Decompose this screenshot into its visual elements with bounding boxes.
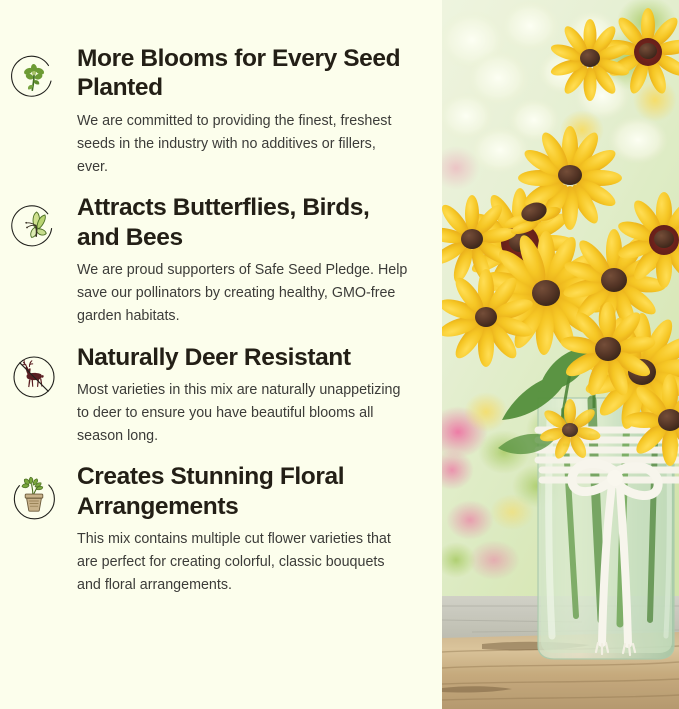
feature-text: Naturally Deer Resistant Most varieties … (77, 343, 431, 449)
butterfly-icon (10, 203, 58, 251)
feature-title: More Blooms for Every Seed Planted (77, 44, 417, 103)
feature-title: Creates Stunning Floral Arrangements (77, 462, 417, 521)
feature-item: More Blooms for Every Seed Planted We ar… (0, 44, 442, 179)
features-panel: More Blooms for Every Seed Planted We ar… (0, 0, 442, 709)
feature-title: Naturally Deer Resistant (77, 343, 409, 372)
product-feature-page: More Blooms for Every Seed Planted We ar… (0, 0, 679, 709)
potted-plant-icon (10, 472, 58, 520)
deer-resistant-icon (10, 353, 58, 401)
feature-description: This mix contains multiple cut flower va… (77, 528, 409, 597)
feature-item: Naturally Deer Resistant Most varieties … (0, 343, 442, 449)
flower-bloom-icon (10, 54, 58, 102)
feature-item: Attracts Butterflies, Birds, and Bees We… (0, 193, 442, 328)
feature-item: Creates Stunning Floral Arrangements Thi… (0, 462, 442, 597)
flowers-in-jar-photo (442, 0, 679, 709)
feature-title: Attracts Butterflies, Birds, and Bees (77, 193, 417, 252)
feature-text: Creates Stunning Floral Arrangements Thi… (77, 462, 439, 597)
feature-description: Most varieties in this mix are naturally… (77, 379, 409, 448)
feature-text: Attracts Butterflies, Birds, and Bees We… (77, 193, 439, 328)
product-photo (442, 0, 679, 709)
feature-description: We are proud supporters of Safe Seed Ple… (77, 259, 409, 328)
feature-description: We are committed to providing the finest… (77, 110, 409, 179)
feature-text: More Blooms for Every Seed Planted We ar… (77, 44, 439, 179)
